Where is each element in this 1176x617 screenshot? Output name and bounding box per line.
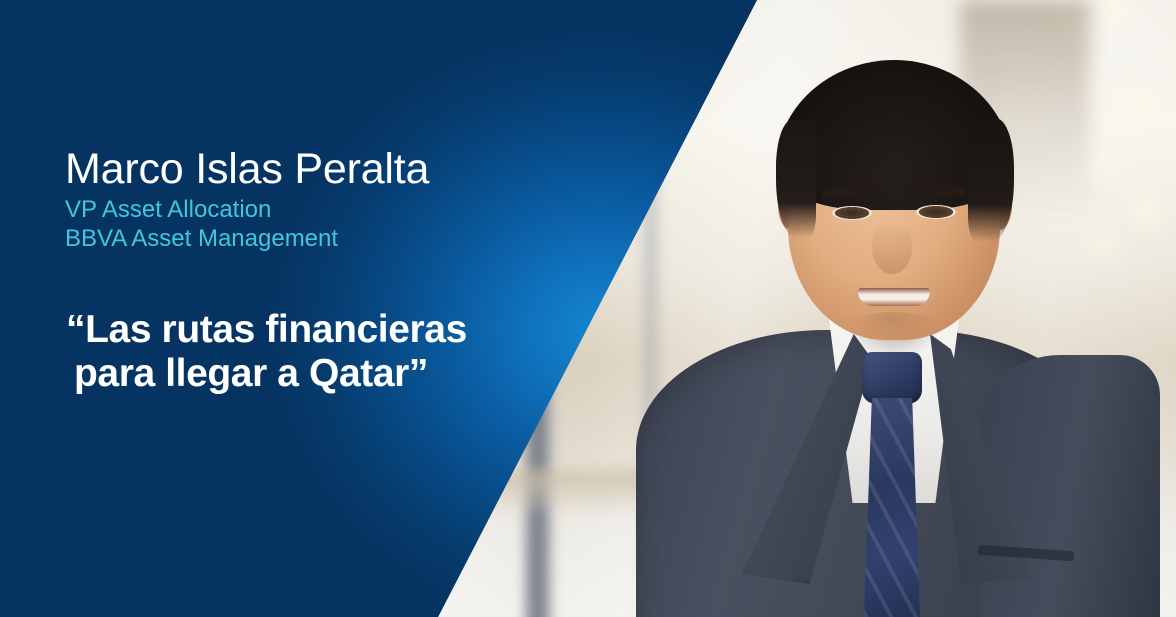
quote-line-2: para llegar a Qatar” — [66, 352, 536, 396]
necktie-knot — [862, 352, 922, 404]
hair-sideburn-left — [776, 120, 816, 238]
hair-sideburn-right — [968, 118, 1014, 242]
speaker-organization: BBVA Asset Management — [65, 224, 585, 253]
speaker-role: VP Asset Allocation — [65, 195, 585, 224]
quote-line-1: “Las rutas financieras — [66, 308, 536, 352]
necktie-stripes — [864, 398, 920, 617]
speaker-identity-block: Marco Islas Peralta VP Asset Allocation … — [65, 148, 585, 254]
mouth — [858, 288, 930, 306]
quote-text: “Las rutas financieras para llegar a Qat… — [66, 308, 536, 395]
chin — [848, 312, 940, 344]
speaker-quote-banner: Marco Islas Peralta VP Asset Allocation … — [0, 0, 1176, 617]
nose — [872, 222, 912, 274]
eye-left — [832, 206, 872, 220]
speaker-name: Marco Islas Peralta — [65, 148, 585, 191]
eye-right — [916, 205, 956, 219]
